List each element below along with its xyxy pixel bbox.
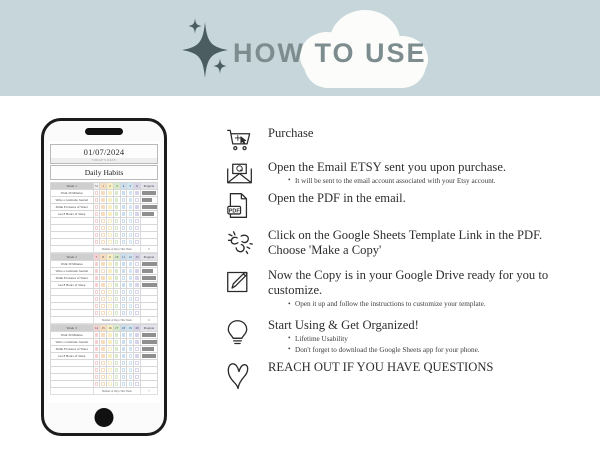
habit-checkbox-cell[interactable]	[120, 225, 127, 232]
habit-checkbox-cell[interactable]	[134, 374, 141, 381]
step-title-line2: customize.	[268, 283, 586, 298]
habit-checkbox-cell[interactable]	[127, 296, 134, 303]
habit-checkbox-cell[interactable]	[93, 275, 100, 282]
phone-home-button[interactable]	[95, 408, 114, 427]
habit-checkbox-cell[interactable]	[100, 225, 107, 232]
week-label: Week 1	[51, 183, 94, 190]
habit-checkbox-cell[interactable]	[134, 289, 141, 296]
progress-cell	[140, 332, 157, 339]
table-row: Write a Gratitude Journal	[51, 339, 158, 346]
habit-checkbox-cell[interactable]	[120, 289, 127, 296]
habit-checkbox-cell[interactable]	[93, 261, 100, 268]
day-header: 5	[127, 183, 134, 190]
day-header: 17	[113, 325, 120, 332]
step-item: Purchase	[226, 126, 586, 154]
habit-checkbox-cell[interactable]	[113, 197, 120, 204]
habit-checkbox-cell[interactable]	[127, 374, 134, 381]
date-caption: TODAY'S DATE	[51, 158, 157, 163]
habit-checkbox-cell[interactable]	[93, 204, 100, 211]
step-body: Open the PDF in the email.	[268, 191, 586, 206]
habit-checkbox-cell[interactable]	[120, 381, 127, 388]
habit-checkbox-cell[interactable]	[107, 303, 114, 310]
habit-name: Get 8 Hours of Sleep	[51, 353, 94, 360]
progress-cell	[140, 346, 157, 353]
habit-checkbox-cell[interactable]	[113, 211, 120, 218]
habit-checkbox-cell[interactable]	[107, 310, 114, 317]
step-title: Click on the Google Sheets Template Link…	[268, 228, 586, 243]
habit-checkbox-cell[interactable]	[100, 211, 107, 218]
header-banner: HOW TO USE	[0, 0, 600, 96]
habit-checkbox-cell[interactable]	[107, 275, 114, 282]
habit-name: Get 8 Hours of Sleep	[51, 282, 94, 289]
habit-checkbox-cell[interactable]	[127, 261, 134, 268]
habit-checkbox-cell[interactable]	[107, 339, 114, 346]
progress-header: Progress	[140, 325, 157, 332]
table-row-empty	[51, 296, 158, 303]
day-header: 31	[93, 183, 100, 190]
habit-checkbox-cell[interactable]	[93, 197, 100, 204]
habit-checkbox-cell[interactable]	[120, 339, 127, 346]
table-row: Drink 8 Glasses of Water	[51, 204, 158, 211]
footer-note: Number of Days This Week	[93, 317, 140, 324]
habit-checkbox-cell[interactable]	[113, 282, 120, 289]
habit-checkbox-cell[interactable]	[107, 374, 114, 381]
habit-checkbox-cell[interactable]	[113, 225, 120, 232]
progress-cell	[140, 197, 157, 204]
habit-checkbox-cell[interactable]	[107, 190, 114, 197]
step-body: REACH OUT IF YOU HAVE QUESTIONS	[268, 360, 586, 375]
table-row: Walk 30 Minutes	[51, 261, 158, 268]
step-item: REACH OUT IF YOU HAVE QUESTIONS	[226, 360, 586, 390]
table-row: Write a Gratitude Journal	[51, 268, 158, 275]
day-header: 6	[134, 183, 141, 190]
habit-checkbox-cell[interactable]	[93, 296, 100, 303]
table-row: Get 8 Hours of Sleep	[51, 282, 158, 289]
habit-checkbox-cell[interactable]	[107, 261, 114, 268]
habit-checkbox-cell[interactable]	[120, 346, 127, 353]
habit-checkbox-cell[interactable]	[100, 218, 107, 225]
table-row-empty	[51, 289, 158, 296]
step-title: Start Using & Get Organized!	[268, 318, 586, 333]
habit-checkbox-cell[interactable]	[120, 239, 127, 246]
habit-checkbox-cell[interactable]	[113, 190, 120, 197]
habit-checkbox-cell[interactable]	[107, 332, 114, 339]
habit-checkbox-cell[interactable]	[113, 268, 120, 275]
habit-checkbox-cell[interactable]	[113, 261, 120, 268]
habit-checkbox-cell[interactable]	[107, 239, 114, 246]
week-table: Week 314151617181920ProgressWalk 30 Minu…	[50, 324, 158, 395]
day-header: 7	[93, 254, 100, 261]
table-row: Drink 8 Glasses of Water	[51, 275, 158, 282]
habit-checkbox-cell[interactable]	[100, 353, 107, 360]
day-header: 2	[107, 183, 114, 190]
footer-note: Number of Days This Week	[93, 246, 140, 253]
day-header: 10	[113, 254, 120, 261]
habit-checkbox-cell[interactable]	[107, 268, 114, 275]
step-title: Purchase	[268, 126, 586, 141]
day-header: 15	[100, 325, 107, 332]
habit-checkbox-cell[interactable]	[107, 218, 114, 225]
habit-checkbox-cell[interactable]	[127, 282, 134, 289]
table-row-empty	[51, 310, 158, 317]
habit-checkbox-cell[interactable]	[127, 310, 134, 317]
habit-checkbox-cell[interactable]	[107, 353, 114, 360]
habit-checkbox-cell[interactable]	[127, 190, 134, 197]
habit-checkbox-cell[interactable]	[93, 225, 100, 232]
habit-checkbox-cell[interactable]	[107, 360, 114, 367]
habit-checkbox-cell[interactable]	[120, 374, 127, 381]
table-row-empty	[51, 381, 158, 388]
habit-checkbox-cell[interactable]	[107, 225, 114, 232]
date-value: 01/07/2024	[51, 147, 157, 157]
habit-checkbox-cell[interactable]	[134, 268, 141, 275]
habit-checkbox-cell[interactable]	[100, 374, 107, 381]
habit-checkbox-cell[interactable]	[113, 381, 120, 388]
habit-checkbox-cell[interactable]	[93, 211, 100, 218]
habit-checkbox-cell[interactable]	[134, 218, 141, 225]
habit-name: Walk 30 Minutes	[51, 261, 94, 268]
habit-checkbox-cell[interactable]	[113, 346, 120, 353]
day-header: 11	[120, 254, 127, 261]
habit-checkbox-cell[interactable]	[100, 367, 107, 374]
habit-checkbox-cell[interactable]	[93, 353, 100, 360]
list-item: Don't forget to download the Google Shee…	[288, 345, 586, 356]
habit-checkbox-cell[interactable]	[120, 218, 127, 225]
habit-checkbox-cell[interactable]	[107, 282, 114, 289]
week-header-row: Week 131123456Progress	[51, 183, 158, 190]
habit-checkbox-cell[interactable]	[134, 296, 141, 303]
day-header: 4	[120, 183, 127, 190]
habit-checkbox-cell[interactable]	[120, 204, 127, 211]
step-body: Start Using & Get Organized!Lifetime Usa…	[268, 318, 586, 355]
lightbulb-icon	[226, 318, 268, 347]
habit-checkbox-cell[interactable]	[134, 310, 141, 317]
habit-checkbox-cell[interactable]	[93, 289, 100, 296]
habit-checkbox-cell[interactable]	[134, 197, 141, 204]
habit-checkbox-cell[interactable]	[120, 332, 127, 339]
habit-checkbox-cell[interactable]	[107, 346, 114, 353]
habit-checkbox-cell[interactable]	[134, 225, 141, 232]
habit-checkbox-cell[interactable]	[134, 190, 141, 197]
day-header: 13	[134, 254, 141, 261]
week-header-row: Week 314151617181920Progress	[51, 325, 158, 332]
habit-checkbox-cell[interactable]	[93, 268, 100, 275]
habit-checkbox-cell[interactable]	[107, 197, 114, 204]
email-envelope-icon	[226, 160, 268, 186]
habit-checkbox-cell[interactable]	[100, 296, 107, 303]
habit-checkbox-cell[interactable]	[127, 239, 134, 246]
habit-checkbox-cell[interactable]	[113, 204, 120, 211]
habit-checkbox-cell[interactable]	[120, 353, 127, 360]
habit-name: Write a Gratitude Journal	[51, 339, 94, 346]
habit-checkbox-cell[interactable]	[107, 296, 114, 303]
week-footer-row: Number of Days This Week7	[51, 388, 158, 395]
habit-checkbox-cell[interactable]	[113, 218, 120, 225]
table-row-empty	[51, 239, 158, 246]
habit-checkbox-cell[interactable]	[113, 332, 120, 339]
table-row-empty	[51, 360, 158, 367]
habit-checkbox-cell[interactable]	[100, 261, 107, 268]
habit-checkbox-cell[interactable]	[113, 275, 120, 282]
habit-checkbox-cell[interactable]	[113, 310, 120, 317]
day-header: 18	[120, 325, 127, 332]
habit-checkbox-cell[interactable]	[93, 232, 100, 239]
habit-checkbox-cell[interactable]	[127, 360, 134, 367]
habit-checkbox-cell[interactable]	[113, 232, 120, 239]
phone-screen: 01/07/2024 TODAY'S DATE Daily Habits Wee…	[48, 141, 160, 403]
habit-checkbox-cell[interactable]	[93, 190, 100, 197]
habit-checkbox-cell[interactable]	[113, 353, 120, 360]
pencil-edit-icon	[226, 268, 268, 295]
habit-checkbox-cell[interactable]	[134, 346, 141, 353]
week-table: Week 278910111213ProgressWalk 30 Minutes…	[50, 253, 158, 324]
habit-checkbox-cell[interactable]	[127, 339, 134, 346]
habit-checkbox-cell[interactable]	[93, 303, 100, 310]
habit-checkbox-cell[interactable]	[107, 367, 114, 374]
habit-checkbox-cell[interactable]	[127, 303, 134, 310]
list-item: Open it up and follow the instructions t…	[288, 299, 586, 310]
habit-checkbox-cell[interactable]	[134, 360, 141, 367]
progress-cell	[140, 268, 157, 275]
habit-checkbox-cell[interactable]	[120, 275, 127, 282]
week-footer-row: Number of Days This Week6	[51, 317, 158, 324]
habit-checkbox-cell[interactable]	[100, 332, 107, 339]
habit-name: Drink 8 Glasses of Water	[51, 204, 94, 211]
habit-checkbox-cell[interactable]	[100, 204, 107, 211]
habit-checkbox-cell[interactable]	[127, 332, 134, 339]
habit-checkbox-cell[interactable]	[127, 232, 134, 239]
day-header: 16	[107, 325, 114, 332]
progress-cell	[140, 339, 157, 346]
habit-checkbox-cell[interactable]	[127, 225, 134, 232]
habit-checkbox-cell[interactable]	[134, 204, 141, 211]
habit-checkbox-cell[interactable]	[134, 339, 141, 346]
step-title: Open the PDF in the email.	[268, 191, 586, 206]
progress-cell	[140, 204, 157, 211]
sheet-title: Daily Habits	[50, 165, 158, 180]
table-row-empty	[51, 232, 158, 239]
habit-checkbox-cell[interactable]	[120, 360, 127, 367]
habit-checkbox-cell[interactable]	[134, 367, 141, 374]
banner-title: HOW TO USE	[233, 38, 427, 69]
habit-checkbox-cell[interactable]	[120, 261, 127, 268]
step-body: Open the Email ETSY sent you upon purcha…	[268, 160, 586, 187]
date-header: 01/07/2024 TODAY'S DATE	[50, 144, 158, 164]
habit-name: Drink 8 Glasses of Water	[51, 346, 94, 353]
habit-checkbox-cell[interactable]	[113, 374, 120, 381]
habit-checkbox-cell[interactable]	[100, 282, 107, 289]
heart-icon	[226, 360, 268, 390]
step-title: Now the Copy is in your Google Drive rea…	[268, 268, 586, 283]
sparkle-small-icon-2	[213, 58, 227, 74]
week-label: Week 3	[51, 325, 94, 332]
habit-checkbox-cell[interactable]	[93, 374, 100, 381]
habit-checkbox-cell[interactable]	[127, 197, 134, 204]
table-row-empty	[51, 374, 158, 381]
progress-cell	[140, 261, 157, 268]
habit-checkbox-cell[interactable]	[120, 211, 127, 218]
habit-checkbox-cell[interactable]	[93, 218, 100, 225]
habit-checkbox-cell[interactable]	[120, 367, 127, 374]
habit-checkbox-cell[interactable]	[134, 282, 141, 289]
habit-checkbox-cell[interactable]	[100, 346, 107, 353]
table-row: Write a Gratitude Journal	[51, 197, 158, 204]
table-row: Walk 30 Minutes	[51, 332, 158, 339]
habit-checkbox-cell[interactable]	[93, 339, 100, 346]
habit-checkbox-cell[interactable]	[107, 204, 114, 211]
habit-checkbox-cell[interactable]	[100, 381, 107, 388]
weeks-container: Week 131123456ProgressWalk 30 MinutesWri…	[50, 182, 158, 395]
footer-note: Number of Days This Week	[93, 388, 140, 395]
step-item: Click on the Google Sheets Template Link…	[226, 228, 586, 258]
day-header: 12	[127, 254, 134, 261]
habit-checkbox-cell[interactable]	[134, 261, 141, 268]
step-item: PDFOpen the PDF in the email.	[226, 191, 586, 219]
habit-checkbox-cell[interactable]	[127, 381, 134, 388]
habit-checkbox-cell[interactable]	[107, 232, 114, 239]
sparkle-small-icon	[188, 18, 202, 34]
step-bullets: It will be sent to the email account ass…	[268, 176, 586, 187]
habit-checkbox-cell[interactable]	[113, 289, 120, 296]
habit-checkbox-cell[interactable]	[100, 303, 107, 310]
habit-checkbox-cell[interactable]	[93, 239, 100, 246]
habit-checkbox-cell[interactable]	[134, 275, 141, 282]
progress-cell	[140, 211, 157, 218]
day-header: 19	[127, 325, 134, 332]
week-total: 6	[140, 317, 157, 324]
pdf-file-icon: PDF	[226, 191, 268, 219]
habit-checkbox-cell[interactable]	[120, 268, 127, 275]
habit-checkbox-cell[interactable]	[100, 190, 107, 197]
day-header: 14	[93, 325, 100, 332]
progress-header: Progress	[140, 254, 157, 261]
week-total: 6	[140, 246, 157, 253]
habit-checkbox-cell[interactable]	[93, 346, 100, 353]
habit-checkbox-cell[interactable]	[100, 197, 107, 204]
habit-checkbox-cell[interactable]	[113, 239, 120, 246]
table-row: Walk 30 Minutes	[51, 190, 158, 197]
step-bullets: Lifetime UsabilityDon't forget to downlo…	[268, 334, 586, 356]
habit-name: Walk 30 Minutes	[51, 332, 94, 339]
phone-speaker	[85, 128, 123, 135]
progress-cell	[140, 275, 157, 282]
progress-cell	[140, 353, 157, 360]
step-title-line2: Choose 'Make a Copy'	[268, 243, 586, 258]
habit-checkbox-cell[interactable]	[120, 232, 127, 239]
table-row-empty	[51, 303, 158, 310]
table-row: Get 8 Hours of Sleep	[51, 211, 158, 218]
habit-checkbox-cell[interactable]	[107, 289, 114, 296]
progress-cell	[140, 282, 157, 289]
habit-checkbox-cell[interactable]	[127, 268, 134, 275]
week-table: Week 131123456ProgressWalk 30 MinutesWri…	[50, 182, 158, 253]
table-row: Get 8 Hours of Sleep	[51, 353, 158, 360]
habit-checkbox-cell[interactable]	[134, 303, 141, 310]
table-row-empty	[51, 218, 158, 225]
step-title: REACH OUT IF YOU HAVE QUESTIONS	[268, 360, 586, 375]
habit-checkbox-cell[interactable]	[134, 332, 141, 339]
habit-checkbox-cell[interactable]	[107, 381, 114, 388]
habit-checkbox-cell[interactable]	[120, 190, 127, 197]
habit-checkbox-cell[interactable]	[120, 197, 127, 204]
habit-checkbox-cell[interactable]	[93, 367, 100, 374]
habit-checkbox-cell[interactable]	[127, 289, 134, 296]
habit-checkbox-cell[interactable]	[113, 303, 120, 310]
habit-checkbox-cell[interactable]	[113, 339, 120, 346]
week-label: Week 2	[51, 254, 94, 261]
habit-checkbox-cell[interactable]	[93, 360, 100, 367]
habit-checkbox-cell[interactable]	[100, 339, 107, 346]
day-header: 1	[100, 183, 107, 190]
habit-checkbox-cell[interactable]	[120, 296, 127, 303]
habit-checkbox-cell[interactable]	[127, 346, 134, 353]
svg-text:PDF: PDF	[229, 208, 241, 214]
step-item: Now the Copy is in your Google Drive rea…	[226, 268, 586, 310]
habit-name: Write a Gratitude Journal	[51, 197, 94, 204]
habit-checkbox-cell[interactable]	[113, 296, 120, 303]
step-body: Click on the Google Sheets Template Link…	[268, 228, 586, 258]
week-header-row: Week 278910111213Progress	[51, 254, 158, 261]
habit-checkbox-cell[interactable]	[100, 360, 107, 367]
habit-checkbox-cell[interactable]	[134, 381, 141, 388]
habit-checkbox-cell[interactable]	[134, 353, 141, 360]
habit-checkbox-cell[interactable]	[93, 282, 100, 289]
week-footer-row: Number of Days This Week6	[51, 246, 158, 253]
habit-checkbox-cell[interactable]	[100, 289, 107, 296]
habit-checkbox-cell[interactable]	[134, 211, 141, 218]
habit-checkbox-cell[interactable]	[100, 239, 107, 246]
habit-checkbox-cell[interactable]	[113, 367, 120, 374]
habit-checkbox-cell[interactable]	[127, 218, 134, 225]
table-row-empty	[51, 367, 158, 374]
habit-checkbox-cell[interactable]	[127, 211, 134, 218]
habit-checkbox-cell[interactable]	[100, 232, 107, 239]
habit-checkbox-cell[interactable]	[100, 268, 107, 275]
table-row: Drink 8 Glasses of Water	[51, 346, 158, 353]
habit-checkbox-cell[interactable]	[93, 332, 100, 339]
habit-checkbox-cell[interactable]	[107, 211, 114, 218]
habit-checkbox-cell[interactable]	[127, 275, 134, 282]
step-item: Open the Email ETSY sent you upon purcha…	[226, 160, 586, 187]
habit-checkbox-cell[interactable]	[113, 360, 120, 367]
habit-name: Drink 8 Glasses of Water	[51, 275, 94, 282]
habit-checkbox-cell[interactable]	[120, 282, 127, 289]
habit-checkbox-cell[interactable]	[120, 303, 127, 310]
habit-checkbox-cell[interactable]	[127, 204, 134, 211]
step-body: Purchase	[268, 126, 586, 141]
habit-checkbox-cell[interactable]	[134, 239, 141, 246]
habit-tracker-sheet: 01/07/2024 TODAY'S DATE Daily Habits Wee…	[48, 141, 160, 398]
habit-name: Walk 30 Minutes	[51, 190, 94, 197]
habit-checkbox-cell[interactable]	[100, 310, 107, 317]
habit-checkbox-cell[interactable]	[100, 275, 107, 282]
habit-checkbox-cell[interactable]	[93, 310, 100, 317]
progress-header: Progress	[140, 183, 157, 190]
habit-checkbox-cell[interactable]	[127, 353, 134, 360]
day-header: 3	[113, 183, 120, 190]
habit-checkbox-cell[interactable]	[120, 310, 127, 317]
phone-mockup: 01/07/2024 TODAY'S DATE Daily Habits Wee…	[41, 118, 167, 436]
step-item: Start Using & Get Organized!Lifetime Usa…	[226, 318, 586, 355]
habit-checkbox-cell[interactable]	[134, 232, 141, 239]
day-header: 9	[107, 254, 114, 261]
habit-name: Write a Gratitude Journal	[51, 268, 94, 275]
steps-list: PurchaseOpen the Email ETSY sent you upo…	[226, 126, 586, 392]
progress-cell	[140, 190, 157, 197]
habit-checkbox-cell[interactable]	[93, 381, 100, 388]
shopping-cart-click-icon	[226, 126, 268, 154]
habit-checkbox-cell[interactable]	[127, 367, 134, 374]
